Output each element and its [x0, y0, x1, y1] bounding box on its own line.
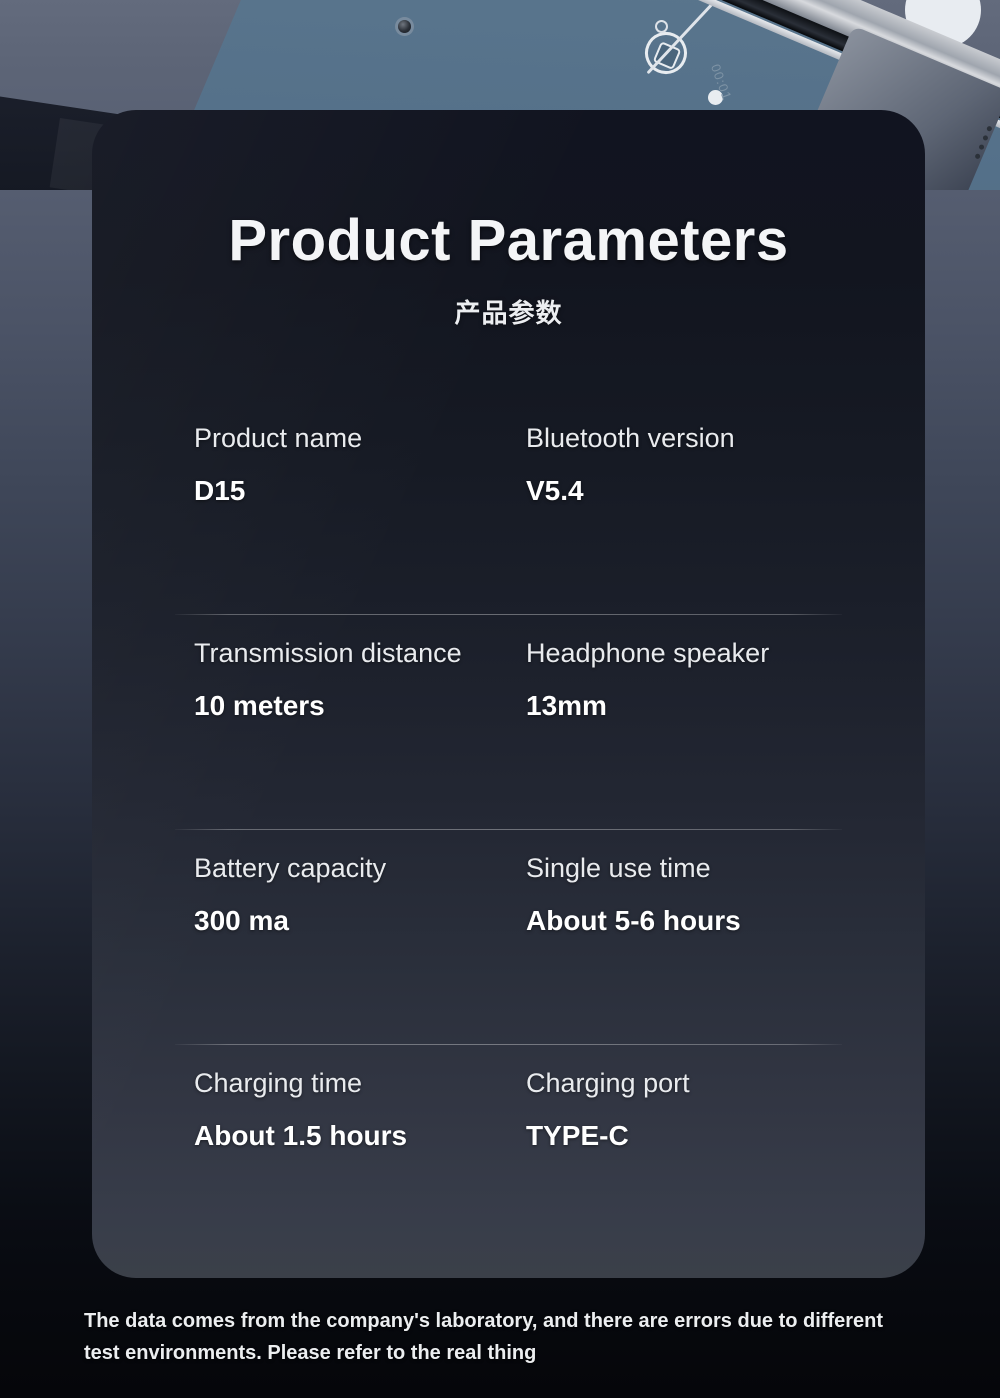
spec-label: Transmission distance	[194, 639, 526, 669]
spec-label: Charging time	[194, 1069, 526, 1099]
spec-value: 10 meters	[194, 691, 526, 722]
spec-value: About 5-6 hours	[526, 906, 858, 937]
spec-cell-product-name: Product name D15	[194, 424, 526, 506]
spec-row: Transmission distance 10 meters Headphon…	[92, 615, 925, 830]
spec-cell-headphone-speaker: Headphone speaker 13mm	[526, 639, 858, 721]
spec-label: Single use time	[526, 854, 858, 884]
spec-cell-bluetooth-version: Bluetooth version V5.4	[526, 424, 858, 506]
spec-cell-transmission-distance: Transmission distance 10 meters	[194, 639, 526, 721]
spec-row: Product name D15 Bluetooth version V5.4	[92, 400, 925, 615]
disclaimer-note: The data comes from the company's labora…	[84, 1305, 884, 1370]
spec-cell-charging-time: Charging time About 1.5 hours	[194, 1069, 526, 1151]
spec-label: Headphone speaker	[526, 639, 858, 669]
spec-table: Product name D15 Bluetooth version V5.4 …	[92, 400, 925, 1260]
spec-value: About 1.5 hours	[194, 1121, 526, 1152]
spec-cell-single-use-time: Single use time About 5-6 hours	[526, 854, 858, 936]
spec-cell-charging-port: Charging port TYPE-C	[526, 1069, 858, 1151]
page-title: Product Parameters	[92, 207, 925, 274]
spec-label: Product name	[194, 424, 526, 454]
spec-row: Charging time About 1.5 hours Charging p…	[92, 1045, 925, 1260]
spec-value: V5.4	[526, 476, 858, 507]
spec-value: 300 ma	[194, 906, 526, 937]
product-parameters-page: 00:01 Product Parameters 产品参数 Product na…	[0, 0, 1000, 1398]
spec-value: 13mm	[526, 691, 858, 722]
spec-value: TYPE-C	[526, 1121, 858, 1152]
spec-label: Bluetooth version	[526, 424, 858, 454]
spec-value: D15	[194, 476, 526, 507]
record-badge-small-icon	[655, 20, 668, 33]
phone-camera-lens	[398, 20, 411, 33]
parameters-card: Product Parameters 产品参数 Product name D15…	[92, 110, 925, 1278]
spec-cell-battery-capacity: Battery capacity 300 ma	[194, 854, 526, 936]
spec-label: Charging port	[526, 1069, 858, 1099]
page-subtitle: 产品参数	[92, 293, 925, 330]
spec-row: Battery capacity 300 ma Single use time …	[92, 830, 925, 1045]
spec-label: Battery capacity	[194, 854, 526, 884]
